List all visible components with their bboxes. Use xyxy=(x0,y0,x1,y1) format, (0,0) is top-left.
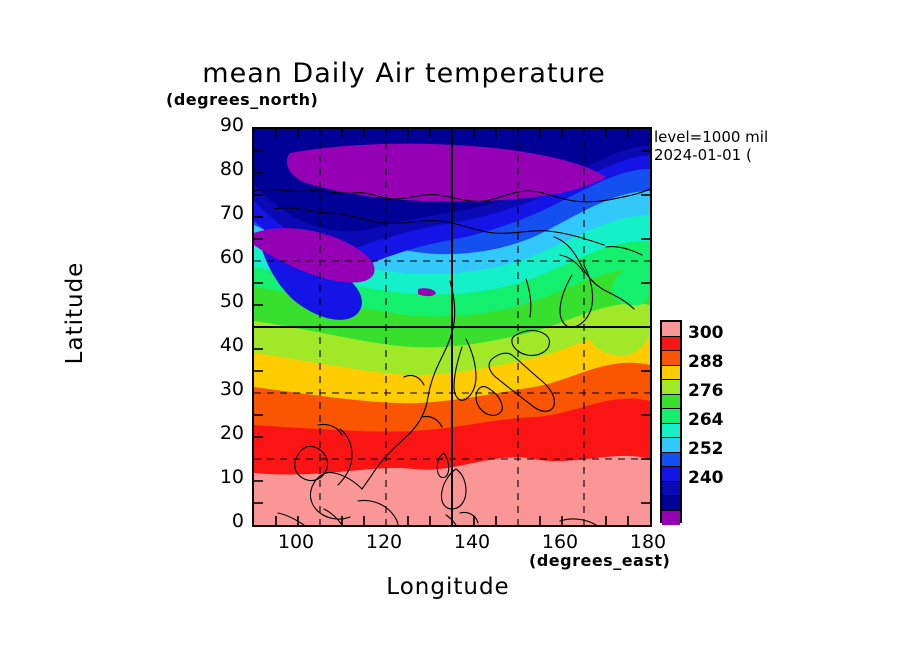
colorbar-tick-label: 300 xyxy=(688,323,724,343)
x-axis-title-text: Longitude xyxy=(386,574,509,600)
y-axis-tick-labels: 9080706050403020100 xyxy=(196,127,244,523)
colorbar-swatch xyxy=(662,438,680,453)
colorbar-swatch xyxy=(662,453,680,468)
x-axis-tick-labels: 100120140160180 xyxy=(252,527,648,557)
colorbar-swatch xyxy=(662,395,680,410)
colorbar-tick-label: 264 xyxy=(688,410,724,430)
y-tick-label: 60 xyxy=(200,246,244,268)
colorbar xyxy=(660,320,682,523)
colorbar-tick-label: 288 xyxy=(688,352,724,372)
contour-plot-area xyxy=(252,127,652,527)
x-tick-label: 140 xyxy=(442,531,502,553)
colorbar-swatch xyxy=(662,511,680,526)
colorbar-swatch xyxy=(662,424,680,439)
y-tick-label: 50 xyxy=(200,290,244,312)
annotation-level: level=1000 mil xyxy=(654,128,768,146)
y-axis-title: Latitude xyxy=(62,233,88,393)
colorbar-swatch xyxy=(662,337,680,352)
colorbar-swatch xyxy=(662,482,680,497)
x-tick-label: 160 xyxy=(530,531,590,553)
colorbar-swatch xyxy=(662,351,680,366)
colorbar-swatch xyxy=(662,366,680,381)
x-tick-label: 120 xyxy=(354,531,414,553)
y-tick-label: 90 xyxy=(200,114,244,136)
plot-annotation: level=1000 mil 2024-01-01 ( xyxy=(654,128,768,164)
colorbar-swatch xyxy=(662,322,680,337)
x-tick-label: 100 xyxy=(266,531,326,553)
chart-title: mean Daily Air temperature xyxy=(0,58,904,89)
colorbar-tick-label: 252 xyxy=(688,439,724,459)
colorbar-swatch xyxy=(662,380,680,395)
y-tick-label: 70 xyxy=(200,202,244,224)
x-tick-label: 180 xyxy=(618,531,678,553)
colorbar-swatch xyxy=(662,409,680,424)
y-tick-label: 0 xyxy=(200,510,244,532)
y-tick-label: 40 xyxy=(200,334,244,356)
x-axis-title: Longitude xyxy=(0,574,904,600)
contour-field xyxy=(254,129,650,525)
y-tick-label: 20 xyxy=(200,422,244,444)
y-tick-label: 80 xyxy=(200,158,244,180)
colorbar-tick-label: 240 xyxy=(688,468,724,488)
y-tick-label: 10 xyxy=(200,466,244,488)
annotation-date: 2024-01-01 ( xyxy=(654,146,768,164)
y-units-label: (degrees_north) xyxy=(166,90,318,109)
colorbar-swatch xyxy=(662,467,680,482)
colorbar-swatch xyxy=(662,496,680,511)
colorbar-labels: 300288276264252240 xyxy=(688,320,748,523)
y-tick-label: 30 xyxy=(200,378,244,400)
colorbar-tick-label: 276 xyxy=(688,381,724,401)
chart-title-text: mean Daily Air temperature xyxy=(202,58,605,89)
